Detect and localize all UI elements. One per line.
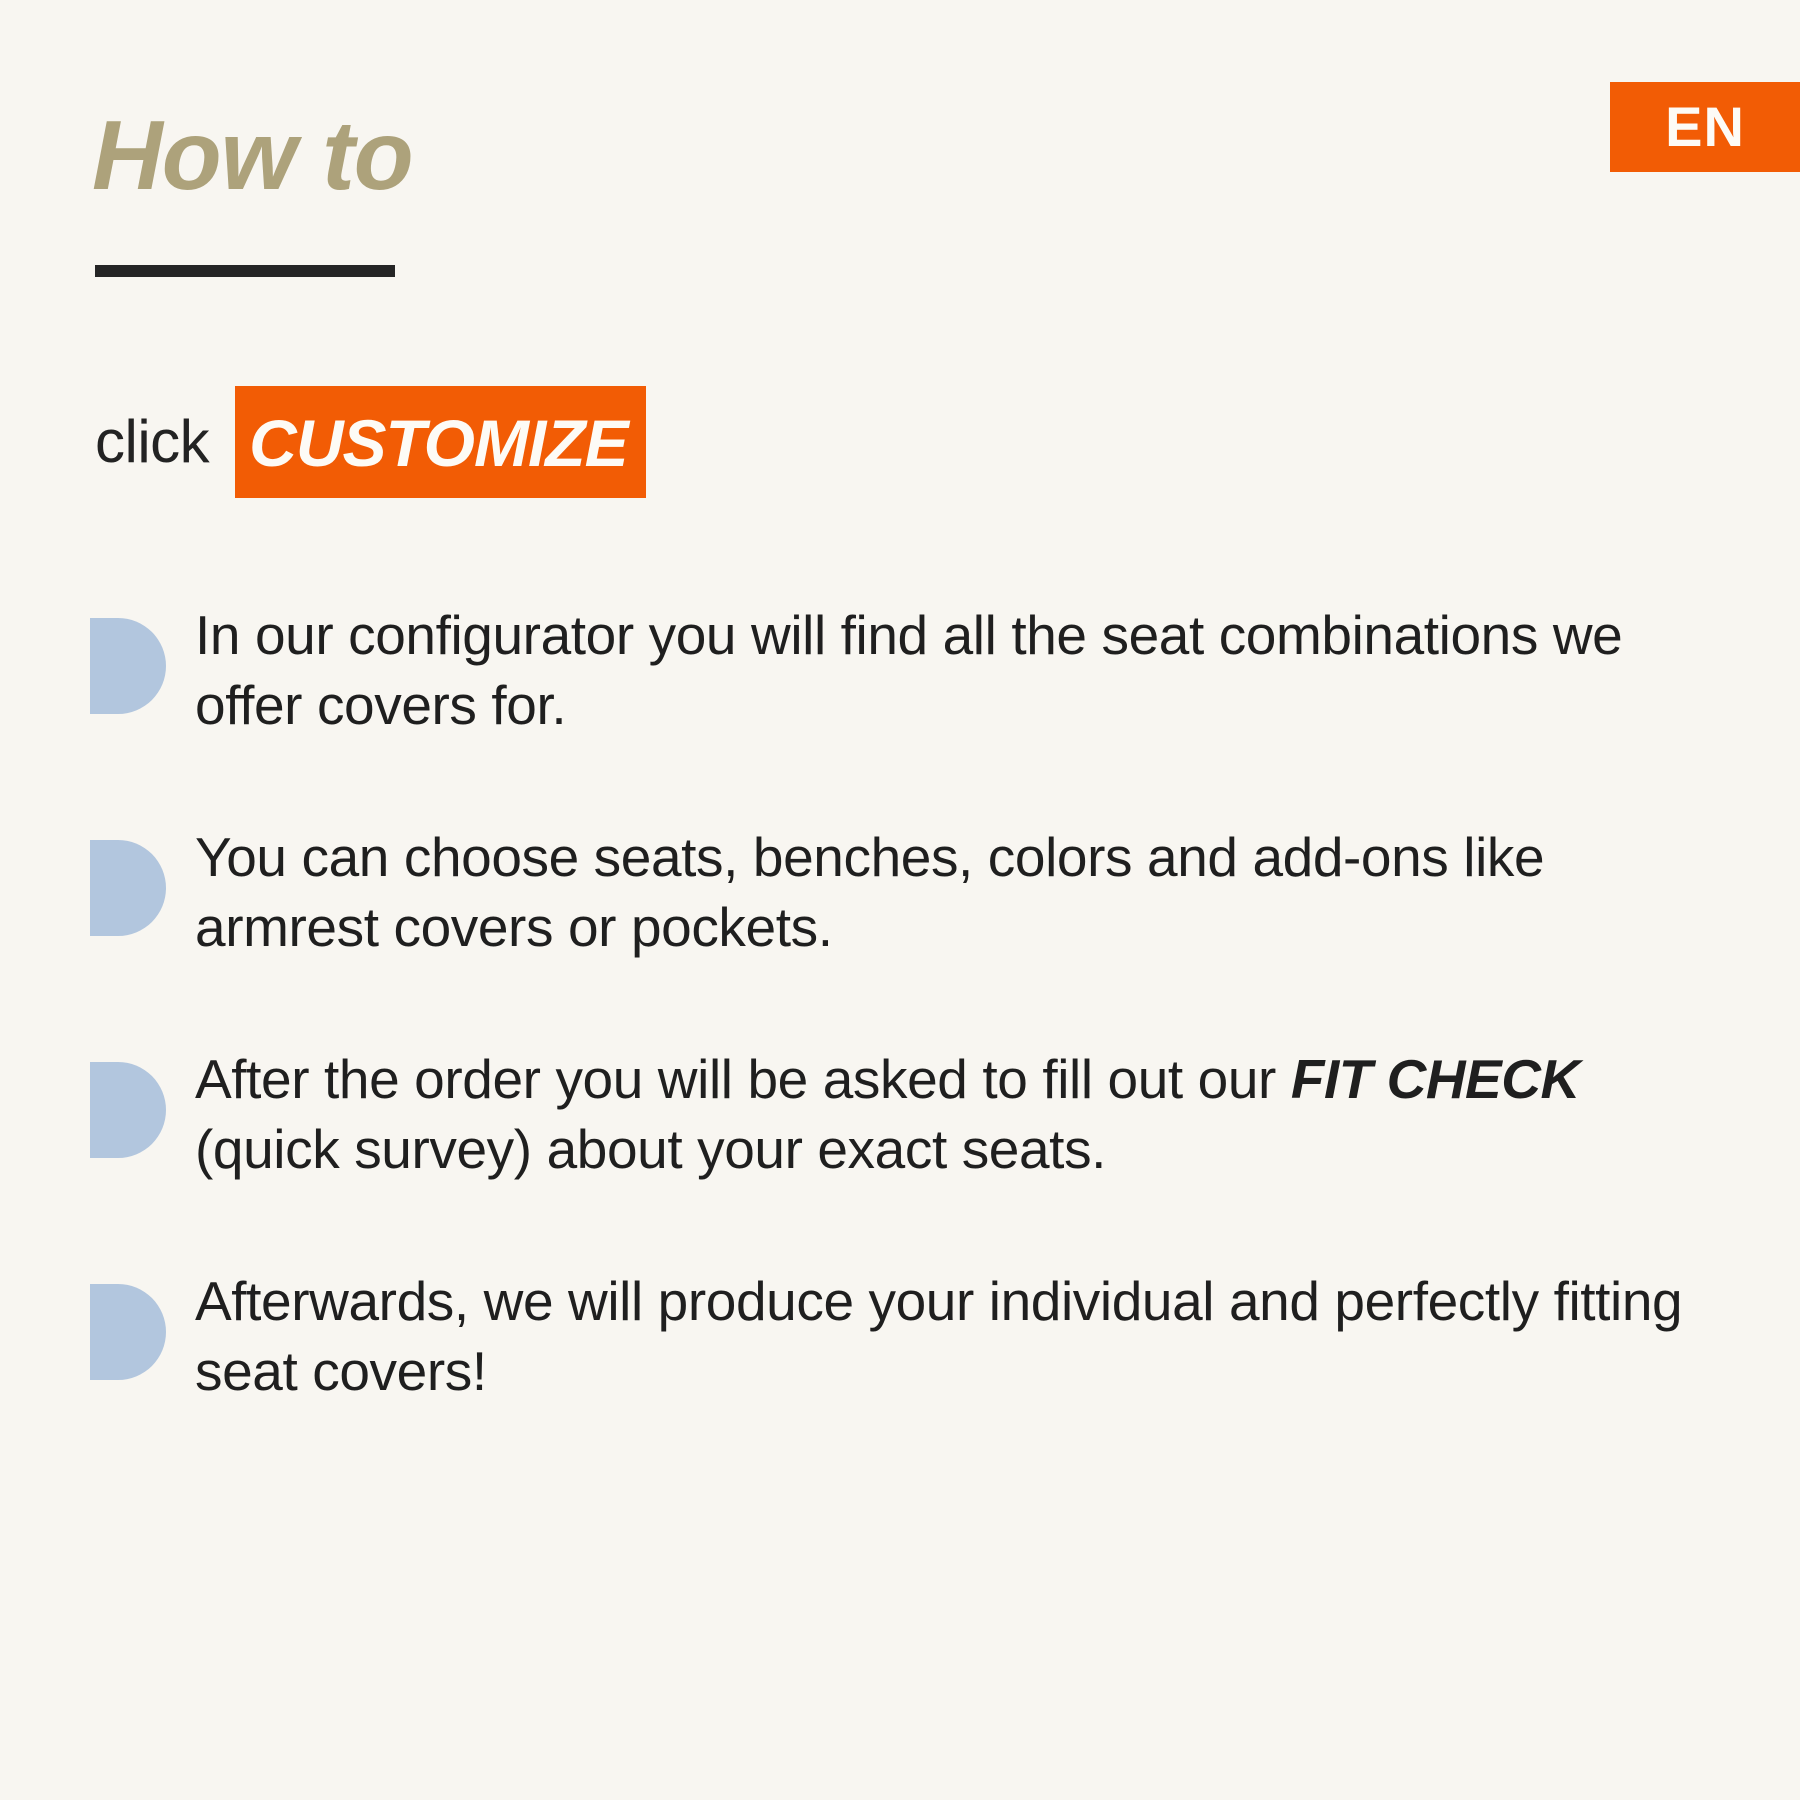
cta-instruction: click CUSTOMIZE xyxy=(95,386,646,498)
title-underline-rule xyxy=(95,265,395,277)
step-text: You can choose seats, benches, colors an… xyxy=(195,822,1730,963)
list-item: You can choose seats, benches, colors an… xyxy=(90,822,1730,1044)
language-badge[interactable]: EN xyxy=(1610,82,1800,172)
bullet-marker-icon xyxy=(90,840,166,936)
cta-prefix-label: click xyxy=(95,412,209,472)
list-item: Afterwards, we will produce your individ… xyxy=(90,1266,1730,1488)
list-item: After the order you will be asked to fil… xyxy=(90,1044,1730,1266)
language-badge-label: EN xyxy=(1665,99,1745,155)
bullet-marker-icon xyxy=(90,618,166,714)
step-text-after: (quick survey) about your exact seats. xyxy=(195,1118,1106,1180)
customize-button-label[interactable]: CUSTOMIZE xyxy=(235,386,645,498)
step-text: In our configurator you will find all th… xyxy=(195,600,1730,741)
steps-list: In our configurator you will find all th… xyxy=(90,600,1730,1488)
fit-check-emphasis: FIT CHECK xyxy=(1291,1048,1580,1110)
page-title: How to xyxy=(92,102,413,210)
step-text: Afterwards, we will produce your individ… xyxy=(195,1266,1730,1407)
bullet-marker-icon xyxy=(90,1062,166,1158)
step-text-before: After the order you will be asked to fil… xyxy=(195,1048,1291,1110)
bullet-marker-icon xyxy=(90,1284,166,1380)
how-to-infographic: EN How to click CUSTOMIZE In our configu… xyxy=(0,0,1800,1800)
step-text: After the order you will be asked to fil… xyxy=(195,1044,1730,1185)
list-item: In our configurator you will find all th… xyxy=(90,600,1730,822)
